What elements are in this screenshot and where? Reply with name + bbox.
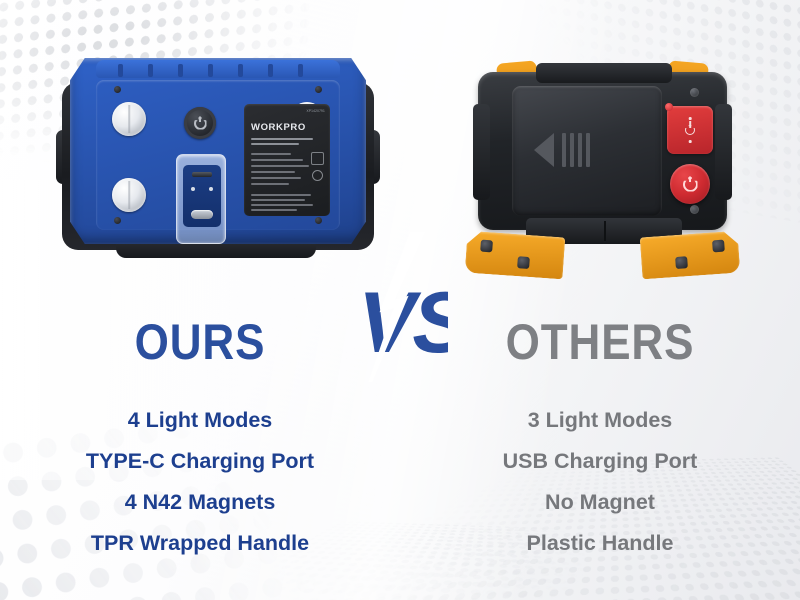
feature-item: 3 Light Modes — [400, 400, 800, 441]
screw — [315, 86, 322, 93]
charging-port-cover[interactable] — [176, 154, 226, 244]
rear-panel: XP1420791 WORKPRO — [96, 80, 340, 230]
led-indicator — [665, 103, 673, 111]
heading-ours: OURS — [24, 316, 376, 368]
charge-indicator-panel — [667, 106, 713, 154]
feature-item: 4 N42 Magnets — [0, 482, 400, 523]
screw — [114, 217, 121, 224]
comparison-infographic: XP1420791 WORKPRO — [0, 0, 800, 600]
certification-icon — [312, 170, 323, 181]
feature-item: TPR Wrapped Handle — [0, 523, 400, 564]
screw — [114, 86, 121, 93]
direction-arrow-icon — [534, 133, 554, 167]
screw — [315, 217, 322, 224]
product-image-ours: XP1420791 WORKPRO — [58, 52, 378, 257]
heading-others: OTHERS — [424, 316, 776, 368]
mode-switch — [192, 172, 212, 177]
usb-c-port-icon — [191, 210, 213, 219]
brand-name: WORKPRO — [251, 122, 306, 133]
top-bar — [536, 63, 672, 83]
top-vent-rail — [96, 60, 340, 78]
product-image-others — [470, 58, 735, 258]
magnet — [112, 102, 146, 136]
feature-item: USB Charging Port — [400, 441, 800, 482]
screw — [690, 88, 699, 97]
plastic-housing — [478, 72, 727, 230]
side-rail-right — [715, 104, 732, 200]
power-button[interactable] — [670, 164, 710, 204]
led-indicator — [191, 187, 195, 191]
orange-leg-right — [640, 231, 741, 280]
charging-port-well — [183, 165, 221, 227]
wee-mark-icon — [311, 152, 324, 165]
feature-item: Plastic Handle — [400, 523, 800, 564]
power-button[interactable] — [184, 107, 216, 139]
blue-housing: XP1420791 WORKPRO — [70, 58, 366, 244]
side-rail-left — [473, 104, 490, 200]
feature-item: No Magnet — [400, 482, 800, 523]
feature-item: 4 Light Modes — [0, 400, 400, 441]
label-code: XP1420791 — [307, 109, 325, 113]
magnet — [112, 178, 146, 212]
feature-list-others: 3 Light Modes USB Charging Port No Magne… — [400, 400, 800, 564]
feature-item: TYPE-C Charging Port — [0, 441, 400, 482]
charge-icon — [682, 120, 698, 140]
power-icon — [683, 177, 698, 192]
power-icon — [194, 117, 207, 130]
orange-leg-left — [465, 231, 566, 280]
battery-cover — [512, 86, 662, 216]
screw — [690, 205, 699, 214]
feature-list-ours: 4 Light Modes TYPE-C Charging Port 4 N42… — [0, 400, 400, 564]
spec-label: XP1420791 WORKPRO — [244, 104, 330, 216]
led-indicator — [209, 187, 213, 191]
